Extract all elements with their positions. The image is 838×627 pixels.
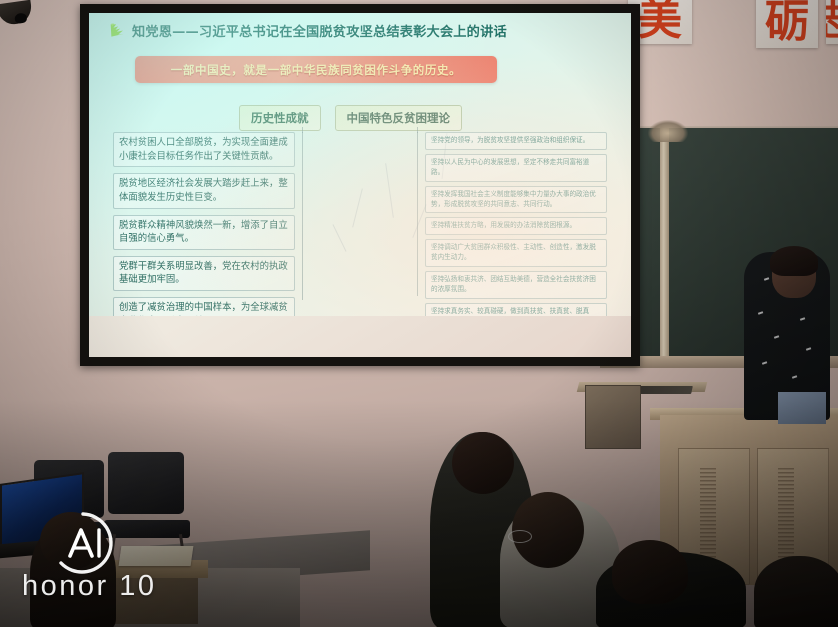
list-item: 脱贫群众精神风貌焕然一新，增添了自立自强的信心勇气。 xyxy=(113,215,295,250)
glasses-icon xyxy=(508,530,532,543)
list-item: 坚持求真务实、较真碰硬，做到真扶贫、扶真贫、脱真贫。 xyxy=(425,303,607,316)
connector-bracket-right xyxy=(417,132,418,296)
blackboard-damage-strip xyxy=(660,128,669,368)
screen-surface: 知党恩——习近平总书记在全国脱贫攻坚总结表彰大会上的讲话 一部中国史，就是一部中… xyxy=(89,13,631,357)
projection-screen: 知党恩——习近平总书记在全国脱贫攻坚总结表彰大会上的讲话 一部中国史，就是一部中… xyxy=(80,4,640,366)
slide-tabs: 历史性成就 中国特色反贫困理论 xyxy=(239,105,462,131)
tab-anti-poverty-theory[interactable]: 中国特色反贫困理论 xyxy=(335,105,463,131)
list-item: 坚持党的领导，为脱贫攻坚提供坚强政治和组织保证。 xyxy=(425,132,607,150)
list-item: 坚持以人民为中心的发展思想，坚定不移走共同富裕道路。 xyxy=(425,154,607,182)
wall-poster-character-2: 砺 xyxy=(756,0,818,48)
slide-title-row: 知党恩——习近平总书记在全国脱贫攻坚总结表彰大会上的讲话 xyxy=(109,21,507,40)
list-item: 坚持精准扶贫方略，用发展的办法消除贫困根源。 xyxy=(425,217,607,235)
audience-member-head xyxy=(452,432,514,494)
audience-member-head xyxy=(40,512,102,570)
list-item: 坚持发挥我国社会主义制度能够集中力量办大事的政治优势，形成脱贫攻坚的共同意志、共… xyxy=(425,186,607,214)
screen-scribble xyxy=(385,163,394,218)
achievements-list: 农村贫困人口全部脱贫，为实现全面建成小康社会目标任务作出了关键性贡献。 脱贫地区… xyxy=(113,132,295,316)
slide-title: 知党恩——习近平总书记在全国脱贫攻坚总结表彰大会上的讲话 xyxy=(132,21,507,40)
slide-quote-banner: 一部中国史，就是一部中华民族同贫困作斗争的历史。 xyxy=(135,56,497,83)
list-item: 农村贫困人口全部脱贫，为实现全面建成小康社会目标任务作出了关键性贡献。 xyxy=(113,132,295,167)
list-item: 脱贫地区经济社会发展大踏步赶上来，整体面貌发生历史性巨变。 xyxy=(113,173,295,208)
list-item: 坚持弘扬和衷共济、团结互助美德，营造全社会扶贫济困的浓厚氛围。 xyxy=(425,271,607,299)
list-item: 创造了减贫治理的中国样本，为全球减贫事业作出了重大贡献。 xyxy=(113,297,295,316)
slide-quote-text: 一部中国史，就是一部中华民族同贫困作斗争的历史。 xyxy=(171,62,461,78)
podium-vent xyxy=(778,468,794,564)
open-book xyxy=(119,546,194,566)
wall-poster-character-3: 志 xyxy=(826,0,838,44)
list-item: 坚持调动广大贫困群众积极性、主动性、创造性，激发脱贫内生动力。 xyxy=(425,239,607,267)
audience-member-head xyxy=(612,540,688,604)
podium-vent xyxy=(700,468,716,564)
connector-bracket-left xyxy=(302,132,303,300)
tab-historic-achievements[interactable]: 历史性成就 xyxy=(239,105,321,131)
classroom-photo: 美 砺 志 知党恩——习近平总书记在全国脱贫攻坚总结表彰大会上的讲话 xyxy=(0,0,838,627)
presentation-slide: 知党恩——习近平总书记在全国脱贫攻坚总结表彰大会上的讲话 一部中国史，就是一部中… xyxy=(89,13,631,316)
wall-mounted-box xyxy=(585,385,641,449)
theory-principles-list: 坚持党的领导，为脱贫攻坚提供坚强政治和组织保证。 坚持以人民为中心的发展思想，坚… xyxy=(425,132,607,316)
list-item: 党群干群关系明显改善，党在农村的执政基础更加牢固。 xyxy=(113,256,295,291)
audience-member-head xyxy=(512,492,584,568)
screen-scribble xyxy=(332,224,346,251)
standing-person-hair xyxy=(770,246,818,276)
party-emblem-icon xyxy=(109,23,126,38)
screen-scribble xyxy=(352,188,363,227)
blackboard-damage-top xyxy=(648,120,688,142)
standing-person-jeans xyxy=(778,392,826,424)
audience-member xyxy=(754,556,838,627)
